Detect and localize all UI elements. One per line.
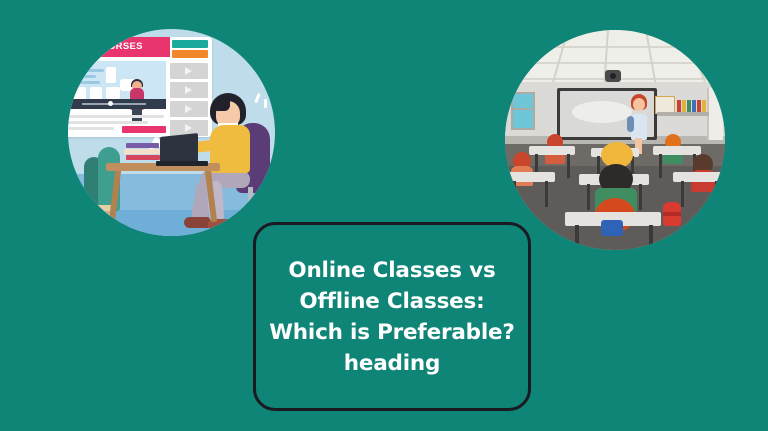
heading-line-3: Which is Preferable?	[269, 317, 514, 348]
teacher-head	[633, 98, 645, 111]
heading-line-4: heading	[269, 348, 514, 379]
course-tag-badge	[172, 40, 208, 48]
school-bag-icon	[601, 220, 623, 236]
play-button-icon[interactable]	[170, 101, 208, 117]
shelf-book	[702, 100, 706, 112]
book-stack-item	[126, 155, 160, 160]
shelf-book	[687, 100, 691, 112]
video-progress-track	[82, 103, 146, 105]
sparkle-icon	[268, 95, 274, 105]
heading-line-2: Offline Classes:	[269, 286, 514, 317]
online-course-screen: INE COURSES	[68, 37, 212, 137]
shelf-book	[697, 100, 701, 112]
teacher-arm	[627, 116, 634, 132]
chair-base	[234, 217, 268, 221]
sparkle-icon	[254, 93, 260, 103]
bookshelf	[657, 112, 709, 116]
book-stack-item	[124, 149, 160, 154]
heading-callout-box: Online Classes vs Offline Classes: Which…	[253, 222, 531, 411]
pot-stripe	[86, 225, 114, 228]
book-stack-item	[126, 143, 159, 148]
window-icon	[511, 92, 535, 130]
page-title: Online Classes vs Offline Classes: Which…	[263, 255, 520, 379]
student-shoe	[184, 217, 210, 228]
chair-stem	[248, 187, 253, 219]
whiteboard-glare	[572, 101, 632, 123]
course-tag-badge	[172, 50, 208, 58]
poster-canvas: INE COURSES	[0, 0, 768, 431]
backpack-flap	[663, 212, 681, 216]
offline-classes-illustration	[505, 30, 725, 250]
play-button-icon[interactable]	[170, 82, 208, 98]
shelf-book	[677, 100, 681, 112]
play-button-icon[interactable]	[170, 63, 208, 79]
door-icon	[707, 88, 723, 140]
sparkle-icon	[264, 99, 267, 108]
course-banner: INE COURSES	[68, 37, 170, 57]
course-banner-label: INE COURSES	[74, 41, 143, 52]
laptop-keyboard	[156, 161, 208, 166]
projector-lens-icon	[610, 73, 616, 79]
shelf-book	[692, 100, 696, 112]
enroll-button[interactable]	[122, 126, 166, 133]
video-progress-bar[interactable]	[68, 99, 166, 109]
heading-line-1: Online Classes vs	[269, 255, 514, 286]
online-classes-illustration: INE COURSES	[68, 29, 275, 236]
shelf-book	[682, 100, 686, 112]
video-progress-handle[interactable]	[108, 101, 113, 106]
window-mullion	[511, 108, 531, 110]
student-hair-front	[212, 97, 230, 111]
